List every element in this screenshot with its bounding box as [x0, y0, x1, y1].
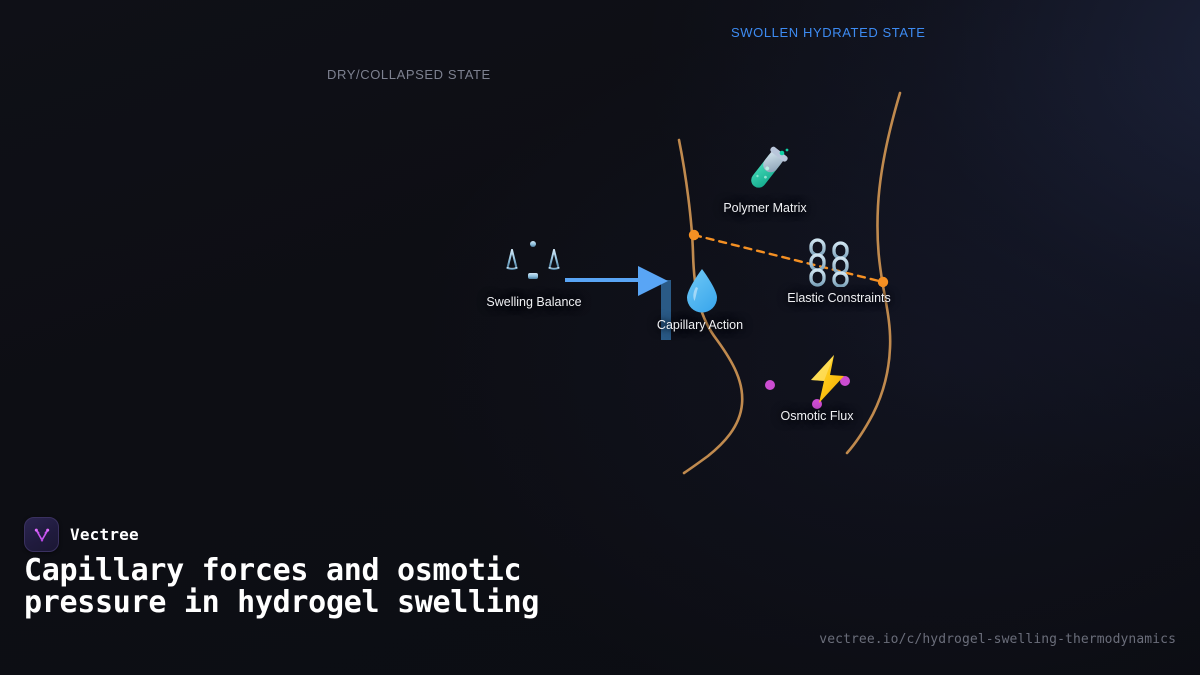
- node-label-osmotic-flux: Osmotic Flux: [781, 409, 854, 423]
- page-title: Capillary forces and osmotic pressure in…: [24, 555, 744, 619]
- water-droplet-icon: [684, 267, 720, 317]
- balance-scale-icon: [506, 239, 560, 291]
- node-label-polymer-matrix: Polymer Matrix: [723, 201, 806, 215]
- footer: Vectree Capillary forces and osmotic pre…: [0, 507, 1200, 675]
- poster-canvas: DRY/COLLAPSED STATE SWOLLEN HYDRATED STA…: [0, 0, 1200, 675]
- headline-line-2: pressure in hydrogel swelling: [24, 587, 744, 619]
- brand-row[interactable]: Vectree: [24, 517, 139, 552]
- test-tube-icon: [740, 144, 792, 200]
- headline-line-1: Capillary forces and osmotic: [24, 555, 744, 587]
- brand-name: Vectree: [70, 525, 139, 544]
- site-url: vectree.io/c/hydrogel-swelling-thermodyn…: [819, 632, 1176, 647]
- node-label-capillary-action: Capillary Action: [657, 318, 743, 332]
- node-label-elastic-constraints: Elastic Constraints: [787, 291, 891, 305]
- flux-dot: [765, 380, 775, 390]
- link-endpoint-dot-right: [878, 277, 888, 287]
- vectree-logo-icon: [24, 517, 59, 552]
- node-label-swelling-balance: Swelling Balance: [486, 295, 581, 309]
- lightning-bolt-icon: [805, 353, 851, 409]
- chain-links-icon: [804, 237, 856, 291]
- link-endpoint-dot-left: [689, 230, 699, 240]
